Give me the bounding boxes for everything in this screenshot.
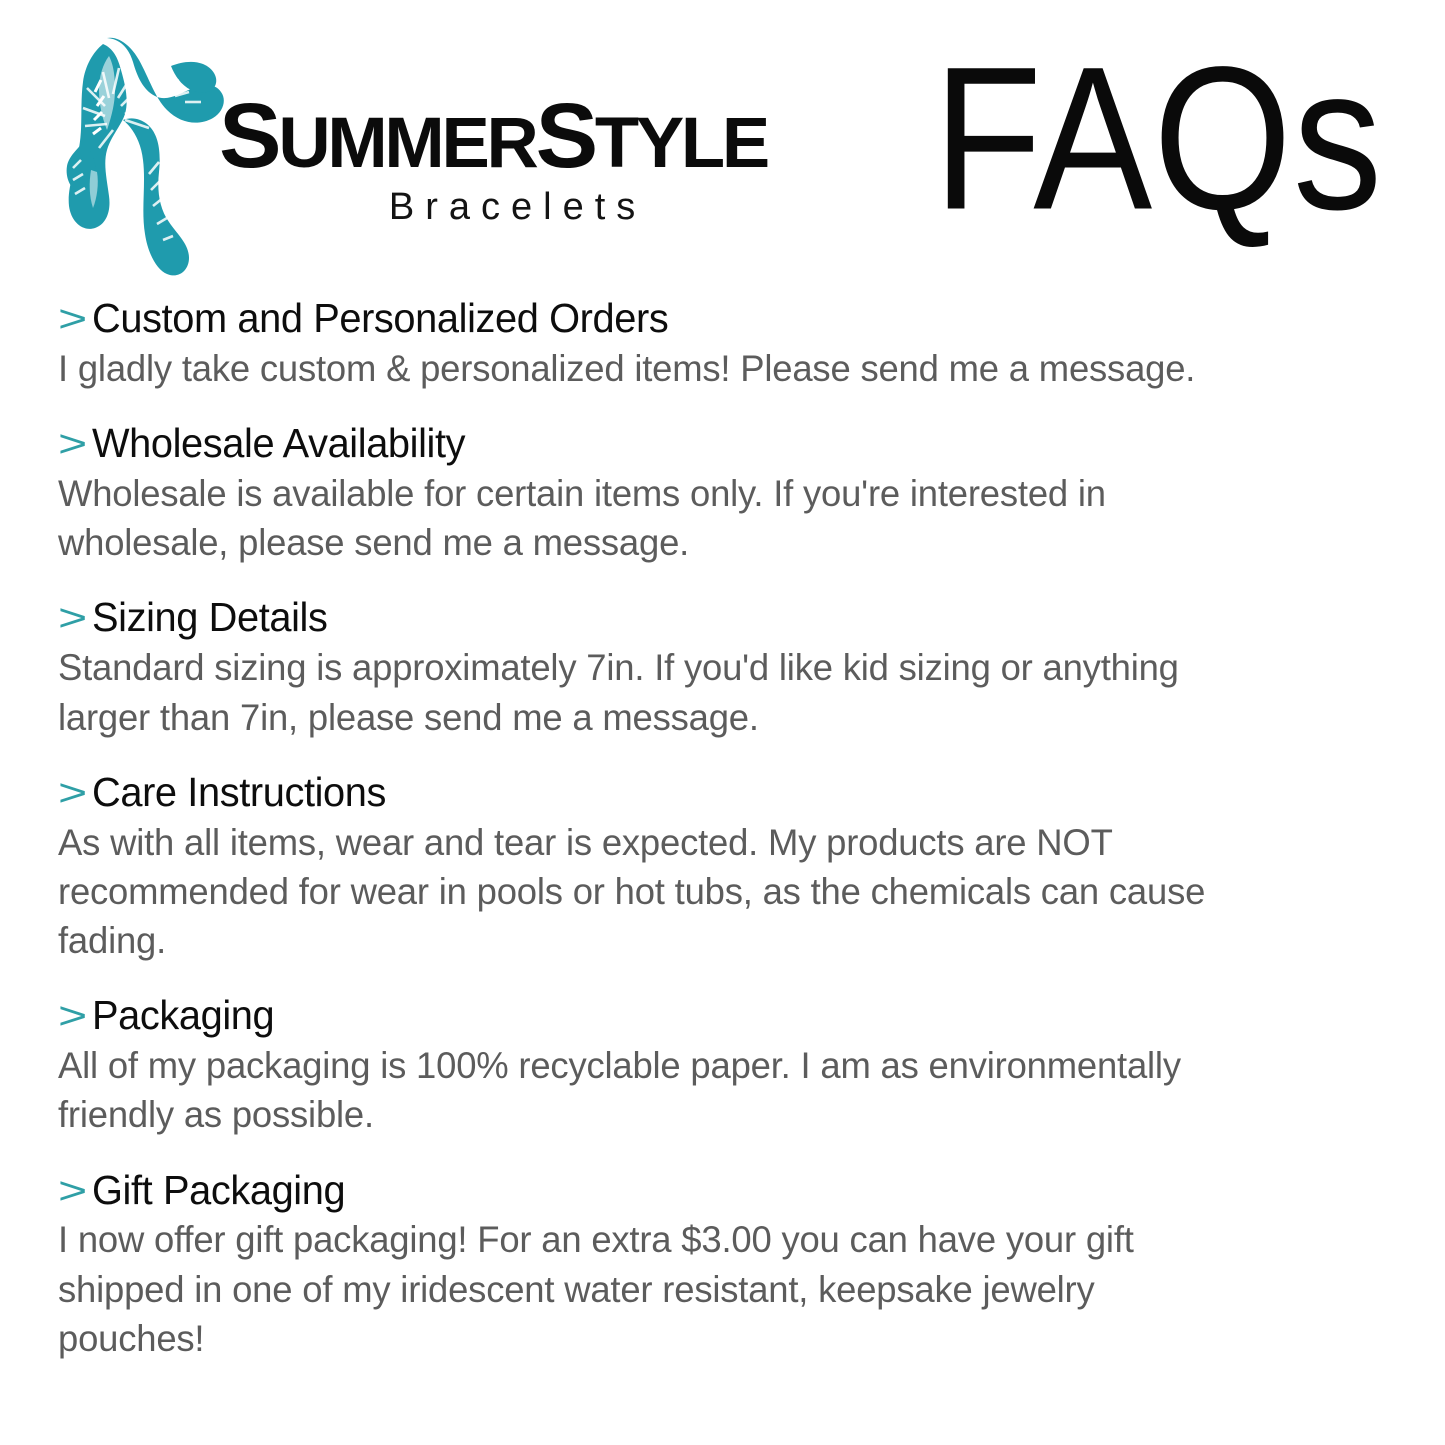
faq-heading-label: Care Instructions — [92, 770, 386, 816]
brand-name: SUMMERSTYLE — [219, 100, 767, 176]
faq-heading-label: Packaging — [92, 993, 274, 1039]
faq-heading: > Care Instructions — [58, 770, 1393, 816]
faq-item-sizing: > Sizing Details Standard sizing is appr… — [58, 595, 1393, 741]
faq-item-wholesale: > Wholesale Availability Wholesale is av… — [58, 421, 1393, 567]
chevron-right-icon: > — [58, 300, 87, 338]
brand-tagline: Bracelets — [279, 186, 756, 229]
faq-body-text: Wholesale is available for certain items… — [58, 469, 1240, 567]
faq-heading: > Sizing Details — [58, 595, 1393, 641]
faq-body-text: As with all items, wear and tear is expe… — [58, 818, 1240, 966]
faq-heading: > Packaging — [58, 993, 1393, 1039]
chevron-right-icon: > — [58, 1172, 87, 1210]
faq-body-text: Standard sizing is approximately 7in. If… — [58, 643, 1240, 741]
brand-logo: SUMMERSTYLE Bracelets — [55, 22, 756, 290]
chevron-right-icon: > — [58, 425, 87, 463]
chevron-right-icon: > — [58, 997, 87, 1035]
faq-list: > Custom and Personalized Orders I gladl… — [58, 296, 1393, 1363]
faq-heading-label: Sizing Details — [92, 595, 328, 641]
chevron-right-icon: > — [58, 599, 87, 637]
faq-heading-label: Wholesale Availability — [92, 421, 465, 467]
chevron-right-icon: > — [58, 774, 87, 812]
faq-heading-label: Gift Packaging — [92, 1168, 345, 1214]
faq-item-gift-packaging: > Gift Packaging I now offer gift packag… — [58, 1168, 1393, 1364]
faq-item-custom-orders: > Custom and Personalized Orders I gladl… — [58, 296, 1393, 393]
faq-body-text: I gladly take custom & personalized item… — [58, 344, 1240, 393]
faq-heading-label: Custom and Personalized Orders — [92, 296, 668, 342]
faq-heading: > Gift Packaging — [58, 1168, 1393, 1214]
brand-wordmark: SUMMERSTYLE Bracelets — [219, 100, 756, 229]
faq-item-packaging: > Packaging All of my packaging is 100% … — [58, 993, 1393, 1139]
page-title: FAQs — [933, 36, 1383, 240]
faq-heading: > Custom and Personalized Orders — [58, 296, 1393, 342]
faq-heading: > Wholesale Availability — [58, 421, 1393, 467]
faq-item-care: > Care Instructions As with all items, w… — [58, 770, 1393, 966]
page-header: SUMMERSTYLE Bracelets FAQs — [0, 0, 1445, 288]
faq-body-text: I now offer gift packaging! For an extra… — [58, 1215, 1240, 1363]
starfish-icon — [63, 22, 231, 290]
faq-body-text: All of my packaging is 100% recyclable p… — [58, 1041, 1240, 1139]
